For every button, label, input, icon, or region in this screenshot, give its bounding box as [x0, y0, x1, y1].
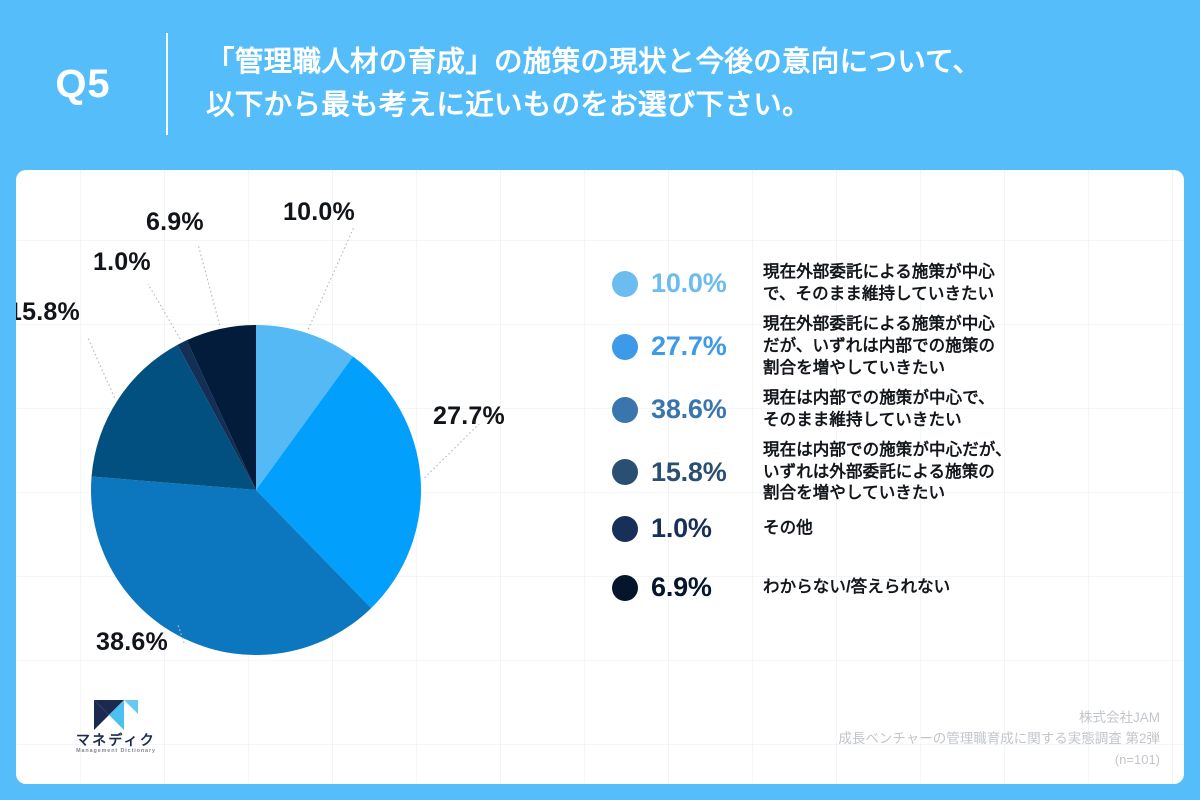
- legend-description-1: 現在外部委託による施策が中心 だが、いずれは内部での施策の 割合を増やしていきた…: [763, 314, 995, 380]
- legend-item-3[interactable]: 15.8% 現在は内部での施策が中心だが、 いずれは外部委託による施策の 割合を…: [612, 440, 1172, 506]
- logo-name-jp: マネディク: [58, 733, 174, 747]
- footer-sample-size: (n=101): [838, 750, 1160, 770]
- footer-survey-name: 成長ベンチャーの管理職育成に関する実態調査 第2弾: [838, 729, 1160, 750]
- pie-leader-line-1: [425, 424, 479, 478]
- pie-label-10-0: 10.0%: [283, 198, 355, 227]
- legend-desc-line: 現在は内部での施策が中心だが、: [763, 440, 1012, 462]
- legend-description-2: 現在は内部での施策が中心で、 そのまま維持していきたい: [763, 388, 995, 432]
- legend-desc-line: 割合を増やしていきたい: [763, 483, 1012, 505]
- legend-desc-line: わからない/答えられない: [763, 577, 950, 599]
- pie-leader-line-0: [308, 227, 354, 329]
- pie-chart: 10.0% 27.7% 38.6% 15.8% 1.0% 6.9%: [36, 180, 616, 780]
- legend-item-0[interactable]: 10.0% 現在外部委託による施策が中心 で、そのまま維持していきたい: [612, 262, 1172, 306]
- legend-description-3: 現在は内部での施策が中心だが、 いずれは外部委託による施策の 割合を増やしていき…: [763, 440, 1012, 506]
- legend-percent-1: 27.7%: [651, 331, 763, 362]
- logo-name-en: Management Dictionary: [58, 749, 174, 754]
- legend-item-4[interactable]: 1.0% その他: [612, 513, 1172, 544]
- legend-dot-icon-3: [612, 459, 638, 485]
- pie-leader-line-3: [88, 338, 114, 398]
- legend-desc-line: 現在外部委託による施策が中心: [763, 314, 995, 336]
- legend-percent-2: 38.6%: [651, 394, 763, 425]
- legend-desc-line: そのまま維持していきたい: [763, 410, 995, 432]
- legend-desc-line: いずれは外部委託による施策の: [763, 462, 1012, 484]
- legend-percent-3: 15.8%: [651, 457, 763, 488]
- legend-desc-line: 現在は内部での施策が中心で、: [763, 388, 995, 410]
- legend-dot-icon-4: [612, 516, 638, 542]
- legend-description-4: その他: [763, 518, 813, 540]
- pie-slices: [91, 325, 421, 655]
- brand-logo[interactable]: マネディク Management Dictionary: [58, 700, 174, 754]
- legend-item-2[interactable]: 38.6% 現在は内部での施策が中心で、 そのまま維持していきたい: [612, 388, 1172, 432]
- legend-percent-5: 6.9%: [651, 572, 763, 603]
- legend-dot-icon-1: [612, 334, 638, 360]
- legend-percent-0: 10.0%: [651, 268, 763, 299]
- legend-desc-line: その他: [763, 518, 813, 540]
- legend-percent-4: 1.0%: [651, 513, 763, 544]
- legend-desc-line: 現在外部委託による施策が中心: [763, 262, 995, 284]
- chart-legend: 10.0% 現在外部委託による施策が中心 で、そのまま維持していきたい 27.7…: [612, 262, 1172, 611]
- footer-company: 株式会社JAM: [838, 708, 1160, 729]
- legend-desc-line: 割合を増やしていきたい: [763, 358, 995, 380]
- legend-dot-icon-0: [612, 271, 638, 297]
- question-number: Q5: [0, 62, 166, 107]
- logo-mark-icon: [94, 700, 138, 730]
- question-title: 「管理職人材の育成」の施策の現状と今後の意向について、 以下から最も考えに近いも…: [168, 41, 1001, 128]
- pie-leader-line-4: [148, 284, 180, 339]
- pie-label-27-7: 27.7%: [433, 402, 505, 431]
- legend-dot-icon-5: [612, 575, 638, 601]
- legend-description-0: 現在外部委託による施策が中心 で、そのまま維持していきたい: [763, 262, 995, 306]
- pie-label-6-9: 6.9%: [146, 208, 204, 237]
- pie-leader-line-5: [198, 244, 220, 325]
- pie-label-38-6: 38.6%: [96, 628, 168, 657]
- legend-desc-line: だが、いずれは内部での施策の: [763, 336, 995, 358]
- header-divider: [166, 33, 168, 135]
- footer-credits: 株式会社JAM 成長ベンチャーの管理職育成に関する実態調査 第2弾 (n=101…: [838, 708, 1160, 770]
- question-title-line-1: 「管理職人材の育成」の施策の現状と今後の意向について、: [206, 41, 981, 84]
- legend-item-5[interactable]: 6.9% わからない/答えられない: [612, 572, 1172, 603]
- pie-label-1-0: 1.0%: [93, 248, 151, 277]
- slide-root: Q5 「管理職人材の育成」の施策の現状と今後の意向について、 以下から最も考えに…: [0, 0, 1200, 800]
- pie-label-15-8: 15.8%: [16, 298, 80, 327]
- legend-description-5: わからない/答えられない: [763, 577, 950, 599]
- chart-card: 10.0% 27.7% 38.6% 15.8% 1.0% 6.9% 10.0% …: [16, 170, 1184, 784]
- question-title-line-2: 以下から最も考えに近いものをお選び下さい。: [206, 84, 981, 127]
- legend-item-1[interactable]: 27.7% 現在外部委託による施策が中心 だが、いずれは内部での施策の 割合を増…: [612, 314, 1172, 380]
- slide-header: Q5 「管理職人材の育成」の施策の現状と今後の意向について、 以下から最も考えに…: [0, 0, 1200, 168]
- legend-desc-line: で、そのまま維持していきたい: [763, 284, 995, 306]
- legend-dot-icon-2: [612, 397, 638, 423]
